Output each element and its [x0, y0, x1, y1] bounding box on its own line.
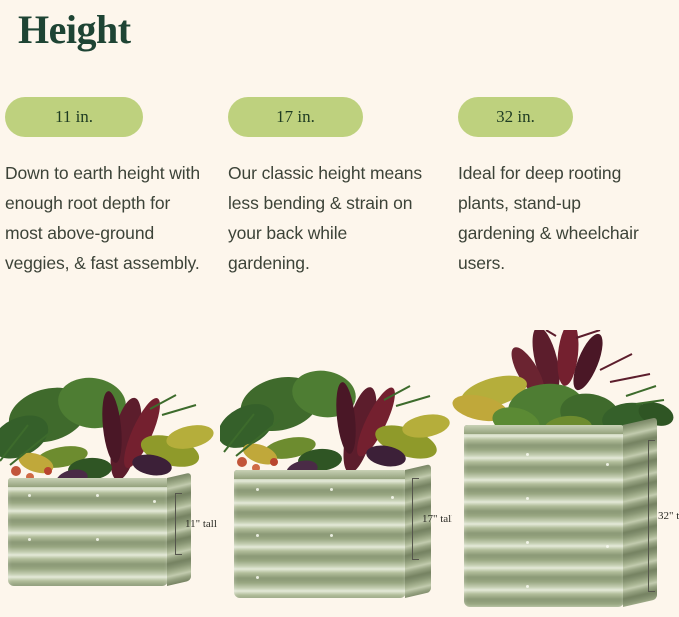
planter-rivet [28, 538, 31, 541]
planter-rivet [526, 497, 529, 500]
height-badge-17in[interactable]: 17 in. [228, 97, 363, 137]
dimension-bracket [175, 493, 182, 555]
planter-rivet [96, 494, 99, 497]
height-option-column-32in: 32 in. Ideal for deep rooting plants, st… [458, 0, 679, 617]
planter-front-panel [464, 425, 624, 607]
planter-rivet [391, 496, 394, 499]
planter-rivet [28, 494, 31, 497]
planter-rim [464, 425, 624, 434]
height-options-grid: 11 in. Down to earth height with enough … [0, 0, 679, 617]
dimension-bracket [648, 440, 655, 592]
height-option-column-11in: 11 in. Down to earth height with enough … [5, 0, 220, 617]
planter-rivet [330, 488, 333, 491]
planter-front-panel [234, 470, 406, 598]
planter-rivet [256, 534, 259, 537]
height-option-column-17in: 17 in. Our classic height means less ben… [228, 0, 443, 617]
planter-photo-17in: 17" tall [220, 360, 452, 617]
planter-rivet [96, 538, 99, 541]
planter-front-panel [8, 478, 168, 586]
planter-rivet [256, 488, 259, 491]
height-description-11in: Down to earth height with enough root de… [5, 158, 205, 278]
dimension-label: 11" tall [185, 518, 217, 530]
height-badge-label: 32 in. [496, 107, 535, 127]
planter-rivet [330, 534, 333, 537]
height-badge-label: 11 in. [55, 107, 93, 127]
height-description-17in: Our classic height means less bending & … [228, 158, 424, 278]
planter-box-17in [234, 470, 406, 598]
height-comparison-page: { "header": { "title": "Height" }, "colo… [0, 0, 679, 617]
height-badge-11in[interactable]: 11 in. [5, 97, 143, 137]
planter-rivet [526, 585, 529, 588]
dimension-label: 17" tall [422, 513, 452, 525]
height-badge-label: 17 in. [276, 107, 315, 127]
dimension-label: 32" tall [658, 510, 679, 522]
planter-rim [234, 470, 406, 479]
planter-rivet [606, 463, 609, 466]
planter-rim [8, 478, 168, 487]
planter-box-11in [8, 478, 168, 586]
dimension-bracket [412, 478, 419, 560]
planter-photo-32in: 32" tall [450, 330, 679, 617]
planter-rivet [256, 576, 259, 579]
planter-box-32in [464, 425, 624, 607]
planter-rivet [526, 453, 529, 456]
planter-rivet [526, 541, 529, 544]
height-badge-32in[interactable]: 32 in. [458, 97, 573, 137]
planter-photo-11in: 11" tall [0, 365, 220, 617]
height-description-32in: Ideal for deep rooting plants, stand-up … [458, 158, 658, 278]
planter-rivet [153, 500, 156, 503]
planter-rivet [606, 545, 609, 548]
